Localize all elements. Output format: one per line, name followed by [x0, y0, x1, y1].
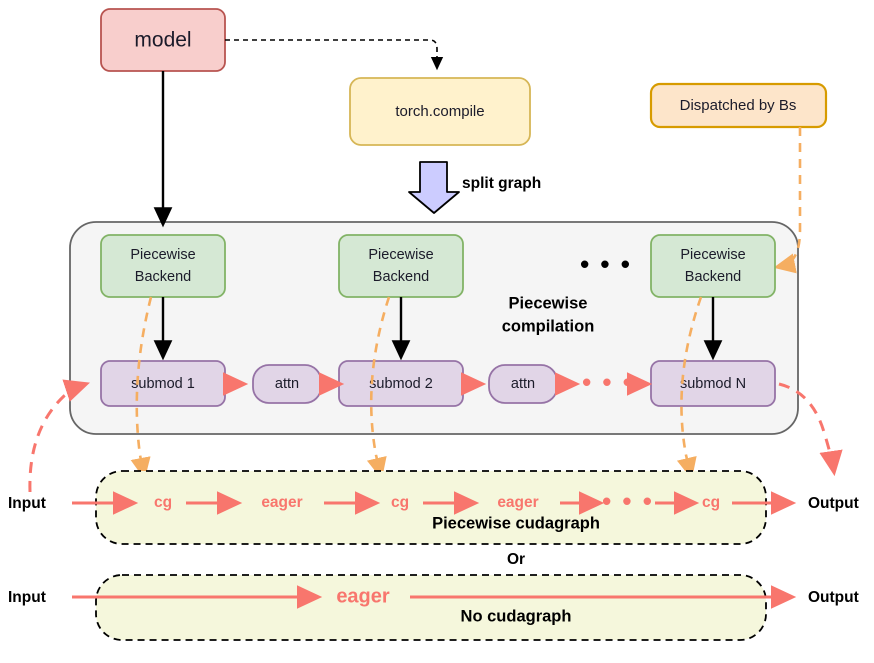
no-cudagraph-box: No cudagraph: [96, 575, 766, 640]
piecewise-backend-n[interactable]: Piecewise Backend: [651, 235, 775, 297]
attn-1-label: attn: [275, 376, 299, 392]
submod-1-label: submod 1: [131, 376, 195, 392]
or-divider-label: Or: [507, 551, 525, 568]
vllm-piecewise-compilation-diagram: model torch.compile split graph Dispatch…: [0, 0, 874, 663]
piecewise-backend-1-line1: Piecewise: [130, 247, 195, 263]
piecewise-step-5: • • •: [602, 486, 654, 516]
submod-n-label: submod N: [680, 376, 746, 392]
no-cudagraph-step: eager: [336, 585, 390, 607]
submod-1[interactable]: submod 1: [101, 361, 225, 406]
submod-n[interactable]: submod N: [651, 361, 775, 406]
piecewise-step-3: cg: [391, 494, 409, 511]
model-node[interactable]: model: [101, 9, 225, 71]
piecewise-step-1: cg: [154, 494, 172, 511]
dispatched-by-bs-label: Dispatched by Bs: [680, 97, 797, 114]
submod-2[interactable]: submod 2: [339, 361, 463, 406]
piecewise-cudagraph-caption: Piecewise cudagraph: [432, 514, 600, 532]
piecewise-step-6: cg: [702, 494, 720, 511]
piecewise-backend-n-line1: Piecewise: [680, 247, 745, 263]
piecewise-backend-1[interactable]: Piecewise Backend: [101, 235, 225, 297]
piecewise-step-2: eager: [261, 494, 302, 511]
piecewise-step-4: eager: [497, 494, 538, 511]
no-cudagraph-caption: No cudagraph: [461, 607, 572, 625]
no-cudagraph-input-label: Input: [8, 589, 46, 606]
model-to-compile-connector: [225, 40, 437, 68]
piecewise-compilation-line1: Piecewise: [509, 294, 588, 312]
piecewise-compilation-line2: compilation: [502, 317, 595, 335]
attn-2-label: attn: [511, 376, 535, 392]
diagram-canvas: model torch.compile split graph Dispatch…: [0, 0, 874, 663]
piecewise-backend-2[interactable]: Piecewise Backend: [339, 235, 463, 297]
submod-2-label: submod 2: [369, 376, 433, 392]
piecewise-input-label: Input: [8, 495, 46, 512]
torch-compile-node[interactable]: torch.compile: [350, 78, 530, 145]
piecewise-backend-1-line2: Backend: [135, 269, 191, 285]
split-graph-label: split graph: [462, 175, 541, 192]
submod-chain-ellipsis: • • •: [582, 367, 634, 397]
piecewise-backend-2-line2: Backend: [373, 269, 429, 285]
model-label: model: [134, 29, 191, 52]
backend-ellipsis: • • •: [580, 249, 632, 279]
split-graph-arrow: split graph: [409, 162, 541, 213]
torch-compile-label: torch.compile: [395, 103, 484, 120]
piecewise-output-label: Output: [808, 495, 859, 512]
piecewise-backend-2-line1: Piecewise: [368, 247, 433, 263]
attn-1[interactable]: attn: [253, 365, 321, 403]
dispatched-by-bs-node[interactable]: Dispatched by Bs: [651, 84, 826, 127]
attn-2[interactable]: attn: [489, 365, 557, 403]
no-cudagraph-output-label: Output: [808, 589, 859, 606]
piecewise-backend-n-line2: Backend: [685, 269, 741, 285]
piecewise-cudagraph-box: Piecewise cudagraph: [96, 471, 766, 544]
